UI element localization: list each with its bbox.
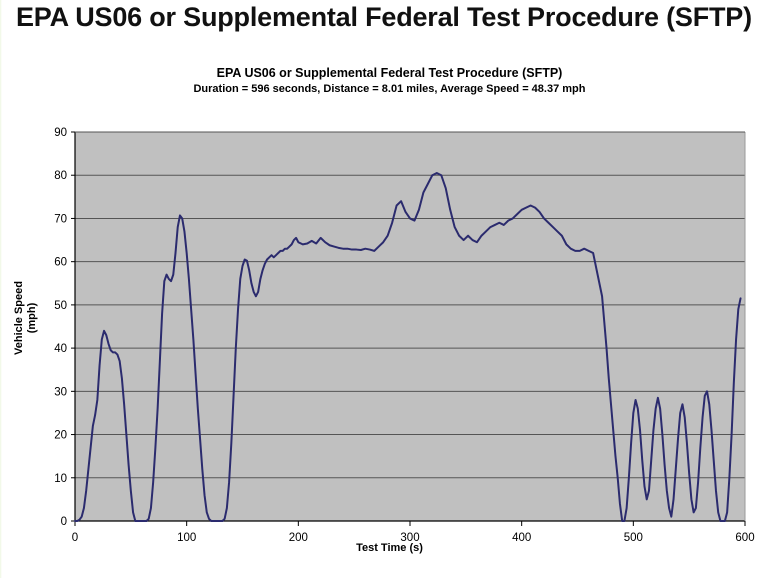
x-axis-label: Test Time (s) — [0, 542, 779, 554]
y-axis-tick-label: 10 — [54, 473, 67, 485]
chart-container: EPA US06 or Supplemental Federal Test Pr… — [0, 50, 779, 578]
y-axis-tick-label: 20 — [54, 430, 67, 442]
y-axis-tick-label: 70 — [54, 213, 67, 225]
y-axis-tick-label: 50 — [54, 300, 67, 312]
y-axis-tick-label: 0 — [61, 516, 67, 528]
y-axis-tick-label: 80 — [54, 170, 67, 182]
y-axis-tick-label: 90 — [54, 127, 67, 139]
y-axis-tick-label: 30 — [54, 386, 67, 398]
chart-plot: 01020304050607080900100200300400500600 — [0, 50, 779, 550]
plot-background — [75, 132, 745, 521]
y-axis-tick-label: 60 — [54, 257, 67, 269]
y-axis-tick-label: 40 — [54, 343, 67, 355]
slide-title: EPA US06 or Supplemental Federal Test Pr… — [16, 2, 766, 33]
